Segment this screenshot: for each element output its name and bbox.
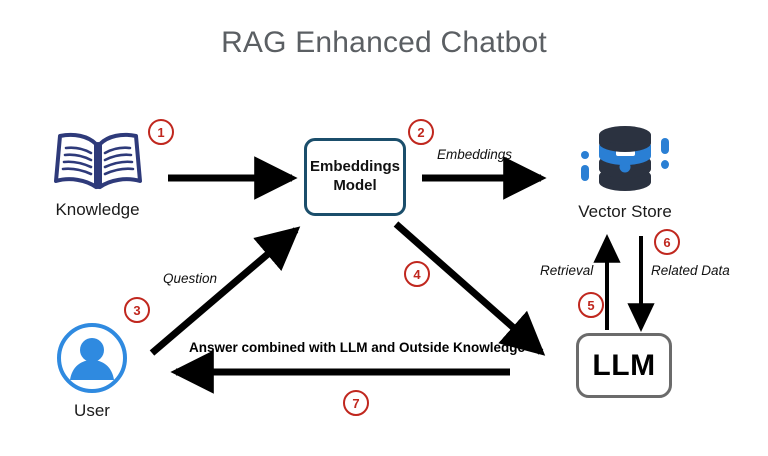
- node-label-vector-store: Vector Store: [545, 202, 705, 222]
- step-badge-4: 4: [404, 261, 430, 287]
- edge-label-question: Question: [163, 271, 217, 286]
- node-user[interactable]: User: [22, 320, 162, 421]
- embeddings-model-line1: Embeddings: [310, 158, 400, 175]
- node-llm[interactable]: LLM: [576, 333, 672, 398]
- rag-diagram: RAG Enhanced Chatbot: [0, 0, 768, 456]
- edge-label-answer: Answer combined with LLM and Outside Kno…: [189, 340, 525, 355]
- page-title: RAG Enhanced Chatbot: [0, 26, 768, 60]
- user-avatar-icon: [22, 320, 162, 396]
- step-badge-2: 2: [408, 119, 434, 145]
- node-label-llm: LLM: [592, 349, 655, 383]
- arrow-user-to-embeddings: [152, 230, 296, 353]
- node-label-knowledge: Knowledge: [20, 200, 175, 220]
- node-vector-store[interactable]: Vector Store: [545, 124, 705, 222]
- node-label-user: User: [22, 401, 162, 421]
- step-badge-3: 3: [124, 297, 150, 323]
- arrow-embeddings-to-llm: [396, 224, 541, 352]
- embeddings-model-line2: Model: [333, 177, 376, 194]
- node-label-embeddings-model: Embeddings Model: [310, 158, 400, 196]
- edge-label-retrieval: Retrieval: [540, 263, 593, 278]
- database-cylinder-icon: [545, 124, 705, 200]
- step-badge-1: 1: [148, 119, 174, 145]
- step-badge-6: 6: [654, 229, 680, 255]
- step-badge-7: 7: [343, 390, 369, 416]
- step-badge-5: 5: [578, 292, 604, 318]
- node-embeddings-model[interactable]: Embeddings Model: [304, 138, 406, 216]
- edge-label-related-data: Related Data: [651, 263, 730, 278]
- edge-label-embeddings: Embeddings: [437, 147, 512, 162]
